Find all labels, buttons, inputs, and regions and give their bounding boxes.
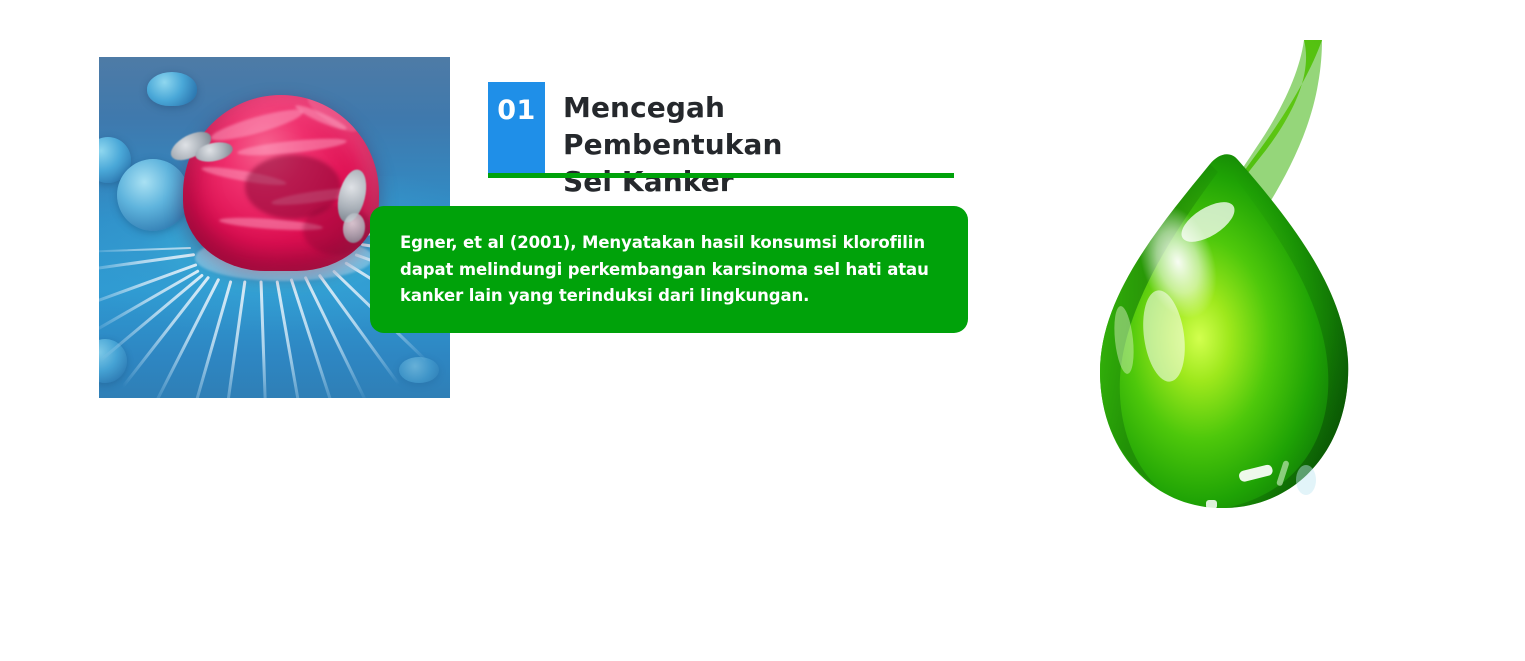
page-title-line-2: Sel Kanker (563, 164, 954, 201)
citation-line-3: kanker lain yang terinduksi dari lingkun… (400, 283, 938, 310)
step-number-badge: 01 (488, 82, 545, 176)
droplet-svg (1060, 40, 1420, 600)
green-droplet-illustration (1060, 40, 1420, 600)
page-title: Mencegah Pembentukan Sel Kanker (563, 82, 954, 201)
droplet-highlight-blue (1296, 465, 1316, 495)
page-title-line-1: Mencegah Pembentukan (563, 90, 954, 164)
satellite-cell (99, 339, 127, 383)
citation-line-2: dapat melindungi perkembangan karsinoma … (400, 257, 938, 284)
citation-text: Egner, et al (2001), Menyatakan hasil ko… (400, 230, 938, 310)
citation-line-1: Egner, et al (2001), Menyatakan hasil ko… (400, 230, 938, 257)
slide-canvas: 01 Mencegah Pembentukan Sel Kanker Egner… (0, 0, 1525, 661)
citation-callout: Egner, et al (2001), Menyatakan hasil ko… (370, 206, 968, 333)
heading-block: 01 Mencegah Pembentukan Sel Kanker (488, 82, 954, 201)
satellite-cell (117, 159, 189, 231)
satellite-cell (399, 357, 439, 383)
droplet-highlight-dot (1206, 500, 1217, 509)
heading-underline-rule (488, 173, 954, 178)
satellite-cell (147, 72, 197, 106)
